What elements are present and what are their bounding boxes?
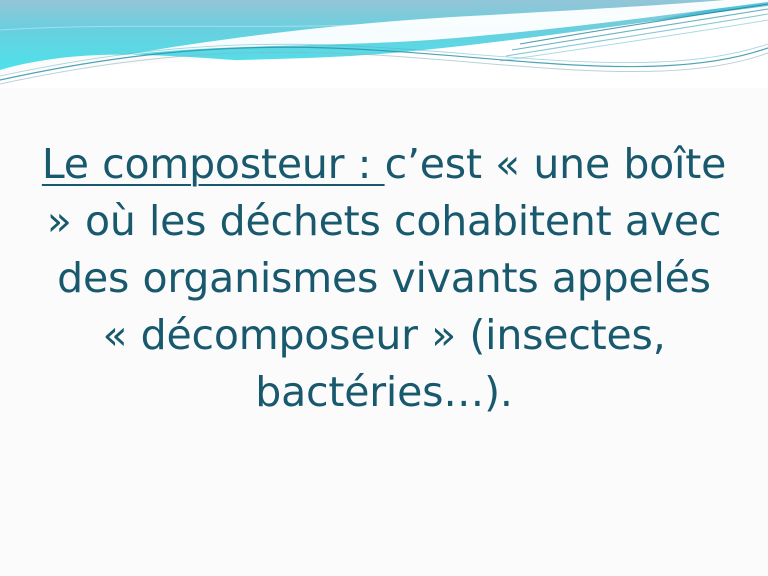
banner-white-swoosh: [120, 0, 768, 56]
banner-strand-1: [520, 4, 768, 44]
banner-white-ribbon: [0, 6, 768, 88]
banner-highlight-curve: [0, 0, 768, 30]
slide-paragraph: Le composteur : c’est « une boîte » où l…: [26, 136, 742, 421]
banner-bottom-curve-2: [0, 52, 768, 84]
banner-strand-2: [512, 9, 768, 50]
lead-term: Le composteur :: [42, 140, 385, 188]
banner-teal-field: [0, 0, 768, 70]
banner-strand-3: [506, 14, 768, 56]
slide-body: Le composteur : c’est « une boîte » où l…: [0, 136, 768, 421]
slide: Le composteur : c’est « une boîte » où l…: [0, 0, 768, 576]
banner-bottom-curve-1: [0, 47, 768, 80]
decorative-wave-banner: [0, 0, 768, 92]
banner-strand-4: [500, 20, 768, 61]
banner-teal-sweep-right: [560, 0, 768, 58]
wave-banner-graphic: [0, 0, 768, 92]
banner-bottom-curve-3: [0, 44, 768, 76]
